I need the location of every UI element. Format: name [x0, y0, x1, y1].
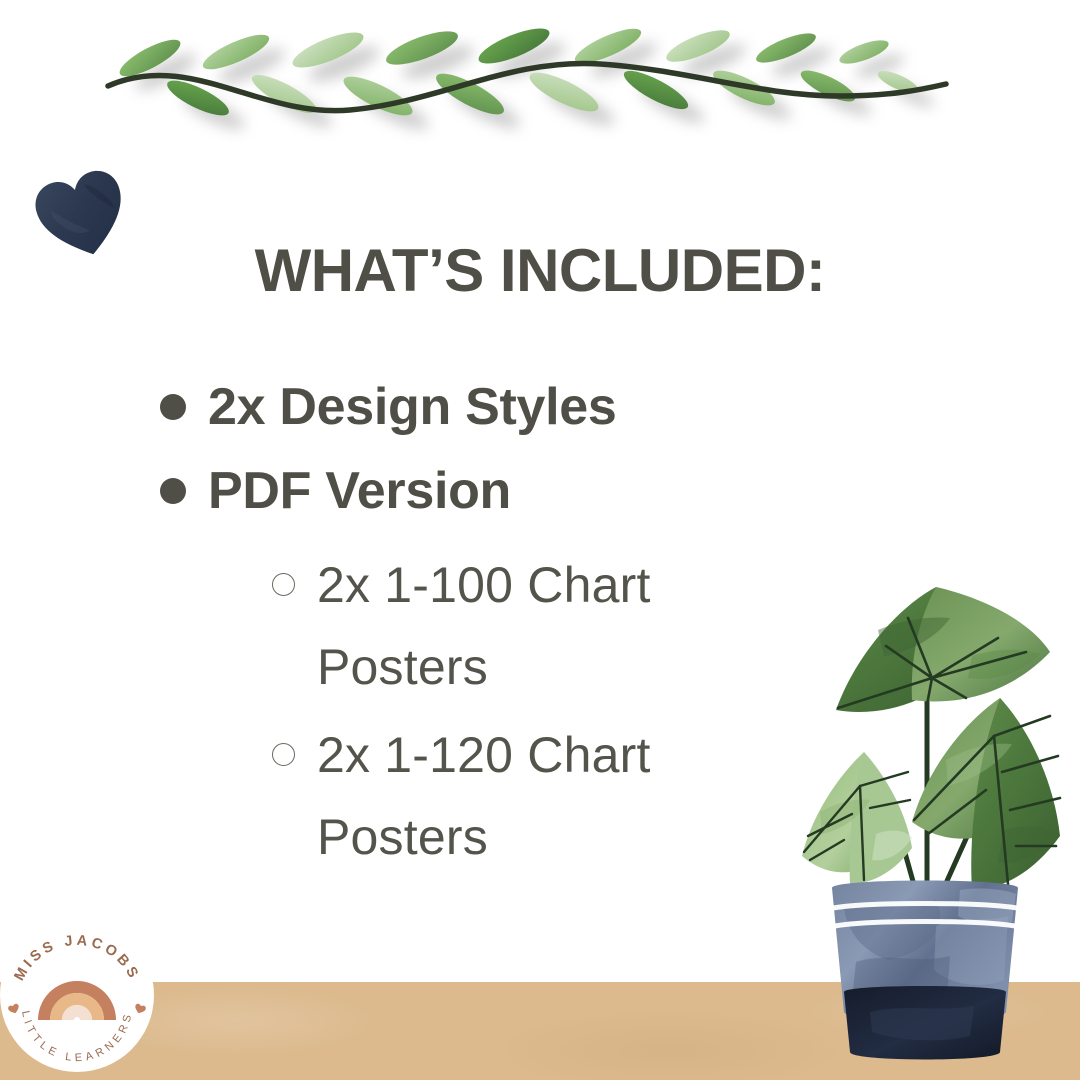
page-title: WHAT’S INCLUDED: [0, 236, 1080, 305]
leaf-right [912, 698, 1060, 890]
sub-list-item: 2x 1-100 Chart Posters [272, 544, 800, 708]
plant-pot [832, 881, 1018, 1060]
leaf-left [802, 752, 912, 884]
list-item: 2x Design Styles [160, 372, 800, 442]
navy-watercolor-heart-icon [22, 152, 140, 270]
included-list: 2x Design Styles PDF Version 2x 1-100 Ch… [160, 372, 800, 884]
list-item-label: 2x Design Styles [208, 372, 617, 442]
alocasia-potted-plant-icon [760, 560, 1080, 1080]
rainbow-icon [44, 987, 110, 1020]
olive-branch-vine-icon [0, 0, 1080, 160]
sub-list-item: 2x 1-120 Chart Posters [272, 714, 800, 878]
bullet-circle-icon [272, 743, 295, 766]
poster-canvas: MISS JACOBS LITTLE LEARNERS WHAT’S INCLU… [0, 0, 1080, 1080]
sub-list-item-label: 2x 1-120 Chart Posters [317, 714, 727, 878]
sub-list-item-label: 2x 1-100 Chart Posters [317, 544, 727, 708]
bullet-dot-icon [160, 394, 186, 420]
bullet-dot-icon [160, 478, 186, 504]
bullet-circle-icon [272, 573, 295, 596]
included-sublist: 2x 1-100 Chart Posters 2x 1-120 Chart Po… [160, 544, 800, 878]
miss-jacobs-little-learners-logo[interactable]: MISS JACOBS LITTLE LEARNERS [0, 910, 162, 1080]
list-item-label: PDF Version [208, 456, 511, 526]
leaf-top [836, 587, 1050, 712]
list-item: PDF Version [160, 456, 800, 526]
